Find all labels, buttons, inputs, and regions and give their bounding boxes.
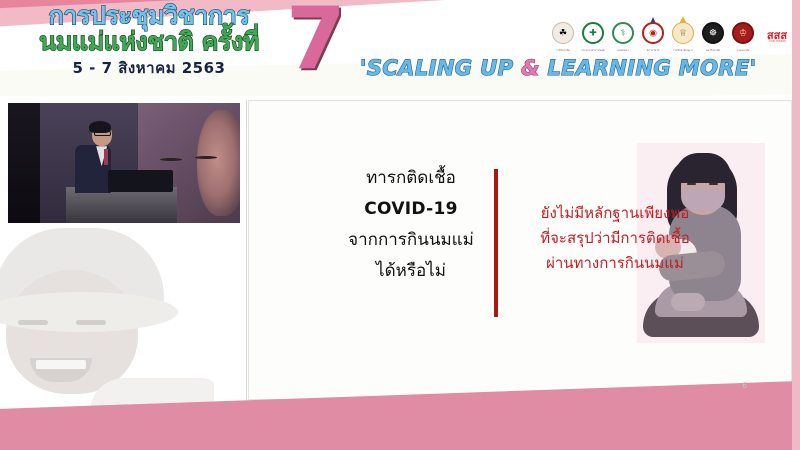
slide-answer-text: ยังไม่มีหลักฐานเพียงพอ ที่จะสรุปว่ามีการ…: [501, 201, 729, 276]
logo-thaihealth-sss: สสส Thai Health: [760, 22, 794, 52]
question-line-1: ทารกติดเชื้อ: [331, 163, 491, 194]
conference-date: 5 - 7 สิงหาคม 2563: [14, 58, 284, 78]
tagline-part-close: LEARNING MORE': [540, 56, 757, 80]
watermark-eye-left: [18, 320, 48, 325]
watermark-hat-brim: [0, 292, 178, 332]
conference-video-thumbnail[interactable]: [8, 103, 240, 223]
smiling-baby-in-hat-watermark: [0, 228, 214, 428]
logo-ministry-public-health: ✚ กระทรวงสาธารณสุข: [580, 22, 606, 52]
slide-red-divider: [494, 169, 498, 317]
video-speaker-tie: [104, 149, 108, 165]
answer-line-1: ยังไม่มีหลักฐานเพียงพอ: [501, 201, 729, 226]
illustration-hand: [671, 293, 705, 311]
conference-title-line1: การประชุมวิชาการ: [14, 2, 284, 30]
video-baby-eye-left: [160, 158, 182, 161]
logo-dark-red-emblem: ♔ กรมอนามัย: [730, 22, 756, 52]
slide-number: 6: [742, 381, 747, 390]
question-line-4: ได้หรือไม่: [331, 256, 491, 287]
right-edge-pink-strip: [792, 0, 800, 450]
conference-header-banner: การประชุมวิชาการ นมแม่แห่งชาติ ครั้งที่ …: [0, 0, 800, 96]
video-laptop: [108, 170, 173, 192]
panel-divider: [246, 100, 247, 400]
conference-edition-number: 7: [286, 0, 346, 82]
conference-tagline: 'SCALING UP & LEARNING MORE': [360, 56, 756, 80]
answer-line-2: ที่จะสรุปว่ามีการติดเชื้อ: [501, 226, 729, 251]
logo-black-emblem: ☸ มหาวิทยาลัย: [700, 22, 726, 52]
logo-thai-royal-seal: ☘ ราชวิทยาลัย: [550, 22, 576, 52]
illustration-eye-right: [709, 183, 718, 185]
presentation-slide: ทารกติดเชื้อ COVID-19 จากการกินนมแม่ ได้…: [248, 100, 792, 400]
watermark-eye-right: [76, 320, 106, 325]
slide-question-text: ทารกติดเชื้อ COVID-19 จากการกินนมแม่ ได้…: [331, 163, 491, 287]
slide-stage: การประชุมวิชาการ นมแม่แห่งชาติ ครั้งที่ …: [0, 0, 800, 450]
sponsor-logo-row: ☘ ราชวิทยาลัย ✚ กระทรวงสาธารณสุข ⚕ แพทยส…: [550, 22, 794, 52]
tagline-ampersand: &: [521, 56, 540, 80]
video-baby-eye-right: [195, 156, 217, 159]
logo-medical-council: ⚕ แพทยสภา: [610, 22, 636, 52]
conference-title-block: การประชุมวิชาการ นมแม่แห่งชาติ ครั้งที่ …: [14, 2, 284, 78]
illustration-hair-top: [675, 153, 731, 183]
watermark-teeth: [36, 360, 86, 369]
answer-line-3: ผ่านทางการกินนมแม่: [501, 251, 729, 276]
video-projected-baby-face: [197, 110, 240, 216]
conference-title-line2: นมแม่แห่งชาติ ครั้งที่: [14, 28, 284, 56]
logo-red-emblem: ◉ สภากาชาด: [640, 22, 666, 52]
question-line-3: จากการกินนมแม่: [331, 225, 491, 256]
illustration-eye-left: [687, 183, 696, 185]
tagline-part-open: 'SCALING UP: [360, 56, 521, 80]
video-speaker-glasses: [94, 131, 111, 136]
logo-royal-crown: ♕ ราชวิทยาลัยกุมาร: [670, 22, 696, 52]
question-line-2: COVID-19: [331, 194, 491, 225]
